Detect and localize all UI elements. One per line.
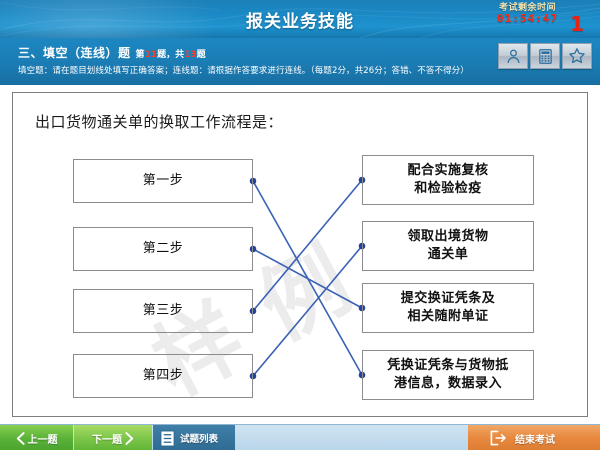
connection-line[interactable] (253, 180, 362, 311)
right-option-1-line1: 配合实施复核 (407, 162, 488, 180)
left-option-4[interactable]: 第四步 (73, 354, 253, 398)
right-option-4-line1: 凭换证凭条与货物抵 (387, 357, 509, 375)
section-instructions: 填空题：请在题目划线处填写正确答案；连线题：请根据作答要求进行连线。（每题2分，… (18, 64, 469, 76)
user-icon (505, 48, 522, 65)
chevron-right-icon (125, 432, 134, 445)
footer-toolbar: 上一题 下一题 试题列表 结 (0, 424, 600, 450)
toolbar-icons (498, 43, 592, 69)
connection-line[interactable] (253, 181, 362, 375)
next-question-label: 下一题 (92, 431, 122, 446)
right-option-3[interactable]: 提交换证凭条及 相关随附单证 (362, 283, 534, 333)
exit-icon (490, 430, 507, 446)
section-subheader: 三、填空（连线）题第11题，共13题 填空题：请在题目划线处填写正确答案；连线题… (0, 38, 600, 85)
prev-question-label: 上一题 (28, 431, 58, 446)
left-option-3-label: 第三步 (143, 302, 184, 320)
star-icon (568, 47, 586, 65)
right-option-1-line2: 和检验检疫 (407, 180, 488, 198)
counter-total: 13 (184, 50, 197, 60)
timer-value: 01:54:47 (497, 13, 558, 26)
left-option-4-label: 第四步 (143, 367, 184, 385)
left-option-2[interactable]: 第二步 (73, 227, 253, 271)
right-option-2-line1: 领取出境货物 (407, 228, 488, 246)
right-option-2[interactable]: 领取出境货物 通关单 (362, 221, 534, 271)
end-exam-button[interactable]: 结束考试 (468, 425, 600, 450)
end-exam-label: 结束考试 (515, 431, 555, 446)
question-counter: 第11题，共13题 (136, 50, 206, 60)
right-option-1[interactable]: 配合实施复核 和检验检疫 (362, 155, 534, 205)
question-panel: 样例 出口货物通关单的换取工作流程是： 第一步 第二步 第三步 第四步 配合实施… (12, 92, 588, 417)
user-icon-button[interactable] (498, 43, 528, 69)
counter-current: 11 (145, 50, 158, 60)
section-title: 三、填空（连线）题 (18, 46, 131, 60)
list-icon (160, 430, 175, 447)
app-header: 报关业务技能 考试剩余时间 01:54:47 1 (0, 0, 600, 38)
left-option-3[interactable]: 第三步 (73, 289, 253, 333)
counter-mid: 题，共 (157, 50, 184, 60)
right-option-3-line2: 相关随附单证 (401, 308, 496, 326)
star-icon-button[interactable] (562, 43, 592, 69)
connection-line[interactable] (253, 249, 362, 308)
calculator-icon (537, 48, 554, 65)
connection-line[interactable] (253, 246, 362, 376)
left-option-1[interactable]: 第一步 (73, 159, 253, 203)
exam-app-window: 报关业务技能 考试剩余时间 01:54:47 1 三、填空（连线）题第11题，共… (0, 0, 600, 450)
next-question-button[interactable]: 下一题 (74, 425, 152, 450)
right-option-4-line2: 港信息，数据录入 (387, 375, 509, 393)
right-option-3-line1: 提交换证凭条及 (401, 290, 496, 308)
question-number-badge: 1 (570, 12, 584, 36)
matching-area: 第一步 第二步 第三步 第四步 配合实施复核 和检验检疫 领取出境货物 通关单 … (13, 93, 588, 417)
right-option-4[interactable]: 凭换证凭条与货物抵 港信息，数据录入 (362, 350, 534, 400)
question-list-label: 试题列表 (180, 431, 218, 445)
calculator-icon-button[interactable] (530, 43, 560, 69)
exam-timer: 考试剩余时间 01:54:47 (497, 3, 558, 26)
counter-prefix: 第 (136, 50, 145, 60)
prev-question-button[interactable]: 上一题 (0, 425, 73, 450)
counter-suffix: 题 (197, 50, 206, 60)
question-list-button[interactable]: 试题列表 (153, 425, 235, 450)
right-option-2-line2: 通关单 (407, 246, 488, 264)
chevron-left-icon (16, 432, 25, 445)
section-title-row: 三、填空（连线）题第11题，共13题 (18, 44, 206, 61)
left-option-1-label: 第一步 (143, 172, 184, 190)
left-option-2-label: 第二步 (143, 240, 184, 258)
